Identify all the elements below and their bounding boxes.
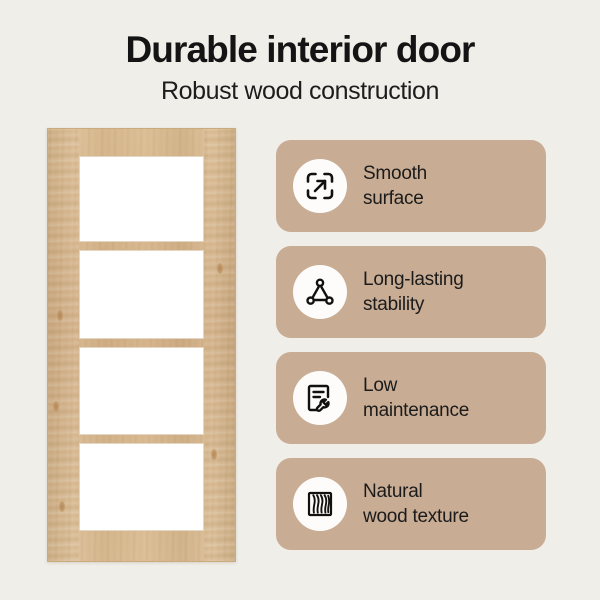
stability-triangle-icon	[293, 265, 347, 319]
feature-card-smooth-surface[interactable]: Smooth surface	[276, 140, 546, 232]
feature-card-low-maintenance[interactable]: Low maintenance	[276, 352, 546, 444]
feature-card-long-lasting-stability[interactable]: Long-lasting stability	[276, 246, 546, 338]
feature-label: Smooth surface	[363, 161, 427, 211]
door-stile-right	[204, 129, 235, 561]
door-frame	[47, 128, 236, 562]
feature-card-list: Smooth surface Long-lasting stability	[276, 140, 546, 564]
door-stile-left	[48, 129, 79, 561]
door-panel-1	[79, 156, 204, 242]
door-panel-2	[79, 250, 204, 339]
feature-label: Low maintenance	[363, 373, 469, 423]
page-subtitle: Robust wood construction	[0, 78, 600, 106]
low-maintenance-icon	[293, 371, 347, 425]
door-panel-4	[79, 443, 204, 531]
page-title: Durable interior door	[0, 30, 600, 71]
smooth-surface-icon	[293, 159, 347, 213]
product-image-door	[47, 128, 236, 562]
header: Durable interior door Robust wood constr…	[0, 30, 600, 105]
feature-label: Long-lasting stability	[363, 267, 464, 317]
door-panel-3	[79, 347, 204, 435]
feature-card-natural-wood-texture[interactable]: Natural wood texture	[276, 458, 546, 550]
wood-texture-icon	[293, 477, 347, 531]
feature-label: Natural wood texture	[363, 479, 469, 529]
